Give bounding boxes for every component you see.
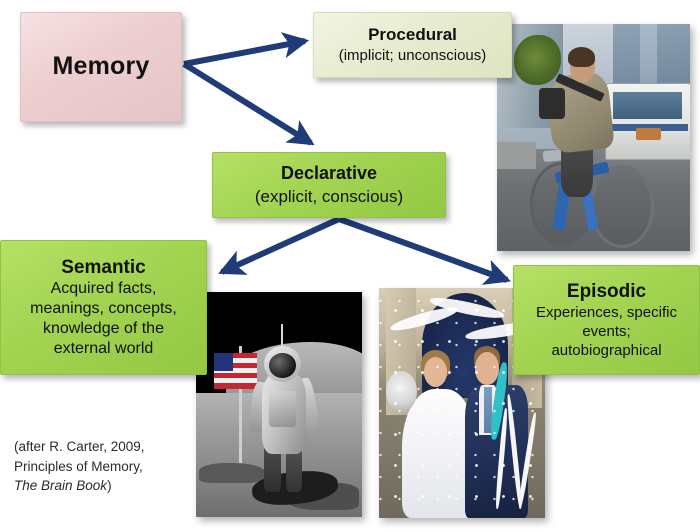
node-memory-title: Memory (52, 52, 149, 82)
citation-line-1: (after R. Carter, 2009, (14, 437, 204, 457)
node-procedural[interactable]: Procedural (implicit; unconscious) (313, 12, 512, 78)
node-memory[interactable]: Memory (20, 12, 182, 122)
node-semantic-subtitle-line-3: knowledge of the (43, 320, 164, 339)
node-semantic-subtitle-line-4: external world (54, 340, 154, 359)
node-episodic[interactable]: Episodic Experiences, specific events; a… (513, 265, 700, 375)
citation-line-3-tail: ) (107, 478, 112, 493)
node-declarative[interactable]: Declarative (explicit, conscious) (212, 152, 446, 218)
node-episodic-subtitle-line-2: events; (582, 323, 630, 341)
arrow-declarative-to-episodic (339, 219, 507, 280)
node-semantic-subtitle-line-2: meanings, concepts, (30, 300, 177, 319)
node-procedural-subtitle: (implicit; unconscious) (339, 47, 487, 65)
citation: (after R. Carter, 2009, Principles of Me… (14, 437, 204, 496)
diagram-canvas: Memory Procedural (implicit; unconscious… (0, 0, 700, 532)
node-procedural-title: Procedural (368, 25, 457, 45)
node-episodic-title: Episodic (567, 281, 646, 303)
node-declarative-title: Declarative (281, 163, 377, 184)
cyclist-photo (497, 24, 690, 251)
astronaut-photo (196, 292, 362, 517)
node-semantic-subtitle-line-1: Acquired facts, (51, 280, 157, 299)
node-declarative-subtitle: (explicit, conscious) (255, 187, 403, 207)
node-episodic-subtitle-line-3: autobiographical (551, 342, 661, 360)
citation-book-title: The Brain Book (14, 478, 107, 493)
arrow-declarative-to-semantic (222, 219, 339, 272)
node-episodic-subtitle-line-1: Experiences, specific (536, 304, 677, 322)
arrow-memory-to-declarative (184, 64, 311, 143)
node-semantic[interactable]: Semantic Acquired facts, meanings, conce… (0, 240, 207, 375)
node-semantic-title: Semantic (61, 257, 145, 279)
citation-line-2: Principles of Memory, (14, 457, 204, 477)
citation-line-3: The Brain Book) (14, 476, 204, 496)
arrow-memory-to-procedural (184, 41, 305, 64)
